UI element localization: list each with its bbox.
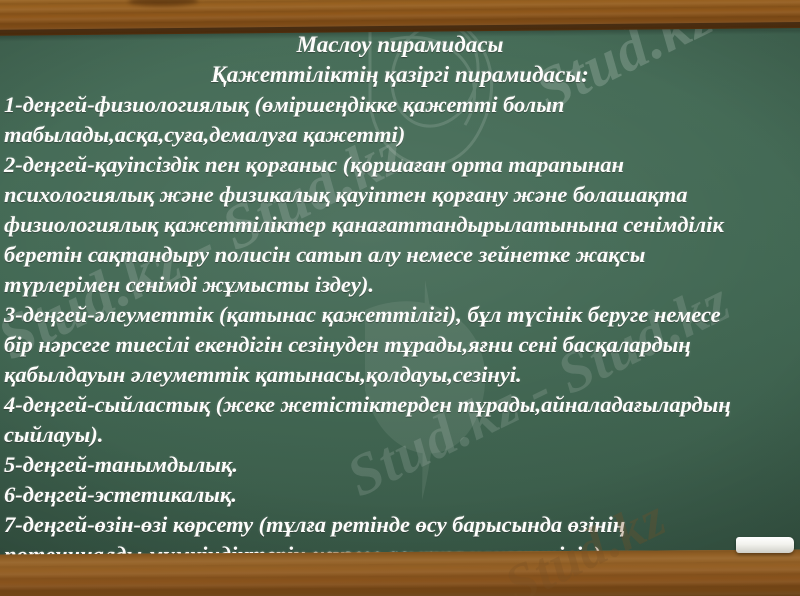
chalk-text-layer: Маслоу пирамидасы Қажеттіліктің қазіргі …	[0, 30, 800, 558]
body-line: 6-деңгей-эстетикалық.	[0, 480, 800, 510]
body-line: бір нәрсеге тиесілі екендігін сезінуден …	[0, 330, 800, 360]
body-line: 1-деңгей-физиологиялық (өміршеңдікке қаж…	[0, 90, 800, 120]
chalkboard-slide: Stud.kz Stud.kz - Stud.kz Stud.kz - Stud…	[0, 0, 800, 596]
body-line: түрлерімен сенімді жұмысты іздеу).	[0, 270, 800, 300]
body-line: 7-деңгей-өзін-өзі көрсету (тұлға ретінде…	[0, 510, 800, 540]
body-line: беретін сақтандыру полисін сатып алу нем…	[0, 240, 800, 270]
body-line: сыйлауы).	[0, 420, 800, 450]
body-line: табылады,асқа,суға,демалуға қажетті)	[0, 120, 800, 150]
body-line: психологиялық және физикалық қауіптен қо…	[0, 180, 800, 210]
slide-title-sub: Қажеттіліктің қазіргі пирамидасы:	[0, 60, 800, 90]
body-line: 3-деңгей-әлеуметтік (қатынас қажеттілігі…	[0, 300, 800, 330]
body-line: 5-деңгей-танымдылық.	[0, 450, 800, 480]
body-line: қабылдауын әлеуметтік қатынасы,қолдауы,с…	[0, 360, 800, 390]
chalk-tray	[0, 549, 800, 596]
body-line: физиологиялық қажеттіліктер қанағаттанды…	[0, 210, 800, 240]
body-line: 4-деңгей-сыйластық (жеке жетістіктерден …	[0, 390, 800, 420]
body-line: 2-деңгей-қауіпсіздік пен қорғаныс (қорша…	[0, 150, 800, 180]
chalk-stick	[736, 537, 794, 553]
